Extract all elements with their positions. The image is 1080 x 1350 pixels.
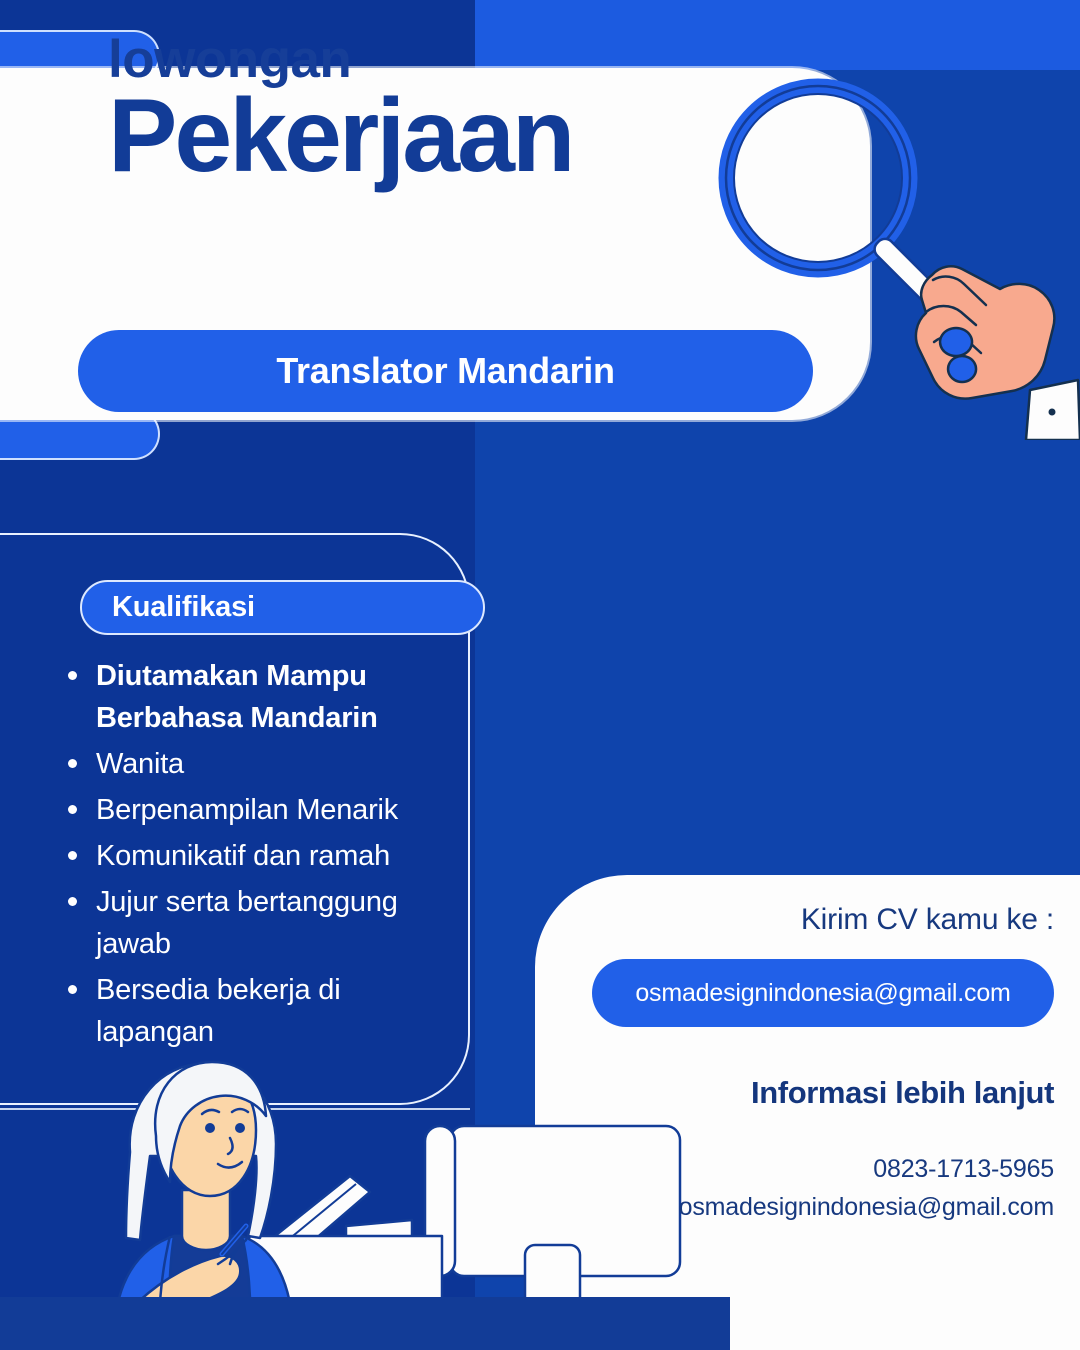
email-pill-label: osmadesignindonesia@gmail.com bbox=[635, 979, 1010, 1008]
job-title-label: Translator Mandarin bbox=[276, 350, 614, 392]
info-title: Informasi lebih lanjut bbox=[575, 1075, 1054, 1111]
cv-label: Kirim CV kamu ke : bbox=[575, 903, 1054, 937]
header-headline: Pekerjaan bbox=[108, 84, 572, 188]
qualification-item: Komunikatif dan ramah bbox=[62, 835, 462, 877]
qualification-item: Wanita bbox=[62, 743, 462, 785]
info-contact-lines: 0823-1713-5965 osmadesignindonesia@gmail… bbox=[575, 1151, 1054, 1226]
qualifications-badge: Kualifikasi bbox=[80, 580, 485, 635]
qualification-item: Jujur serta bertanggung jawab bbox=[62, 881, 462, 965]
desk-strip bbox=[0, 1297, 730, 1350]
qualification-item: Diutamakan Mampu Berbahasa Mandarin bbox=[62, 655, 462, 739]
job-title-pill: Translator Mandarin bbox=[78, 330, 813, 412]
contact-phone: 0823-1713-5965 bbox=[575, 1151, 1054, 1189]
contact-content: Kirim CV kamu ke : osmadesignindonesia@g… bbox=[535, 875, 1080, 1350]
qualifications-badge-label: Kualifikasi bbox=[112, 591, 255, 624]
contact-email: osmadesignindonesia@gmail.com bbox=[575, 1189, 1054, 1227]
poster-canvas: lowongan Pekerjaan Translator Mandarin bbox=[0, 0, 1080, 1350]
qualifications-list: Diutamakan Mampu Berbahasa MandarinWanit… bbox=[62, 655, 462, 1057]
qualification-item: Berpenampilan Menarik bbox=[62, 789, 462, 831]
header-text-group: lowongan Pekerjaan bbox=[108, 32, 572, 188]
email-pill[interactable]: osmadesignindonesia@gmail.com bbox=[592, 959, 1054, 1027]
